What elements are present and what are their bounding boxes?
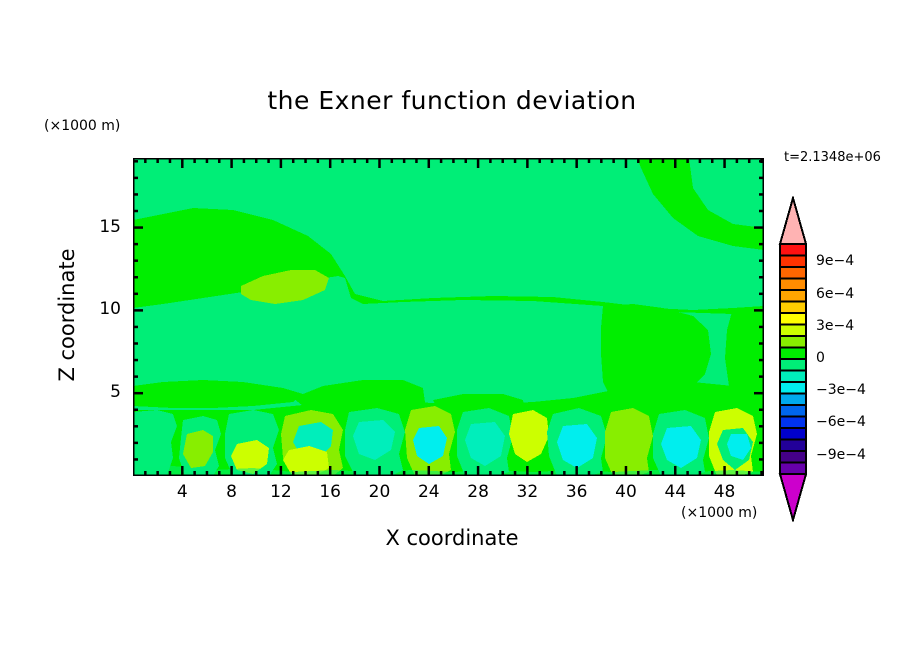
- colorbar-tick-label: 6e−4: [816, 286, 854, 302]
- colorbar-under-arrow: [780, 474, 806, 520]
- colorbar-band: [780, 325, 806, 337]
- y-axis-title: Z coordinate: [55, 205, 79, 425]
- colorbar-band: [780, 348, 806, 360]
- colorbar-band: [780, 463, 806, 475]
- x-tick-label: 44: [655, 482, 695, 502]
- colorbar-band: [780, 359, 806, 371]
- colorbar-tick-label: 9e−4: [816, 253, 854, 269]
- colorbar-tick-label: −6e−4: [816, 414, 866, 430]
- colorbar-band: [780, 428, 806, 440]
- x-tick-label: 12: [261, 482, 301, 502]
- x-axis-title: X coordinate: [0, 526, 904, 550]
- x-tick-label: 24: [409, 482, 449, 502]
- colorbar-tick-label: −9e−4: [816, 447, 866, 463]
- y-tick-label: 5: [81, 382, 121, 402]
- timestamp-label: t=2.1348e+06: [784, 150, 881, 165]
- colorbar-tick-label: −3e−4: [816, 382, 866, 398]
- colorbar-tick-label: 3e−4: [816, 318, 854, 334]
- x-tick-label: 36: [557, 482, 597, 502]
- x-axis-units-label: (×1000 m): [681, 505, 757, 521]
- colorbar-band: [780, 382, 806, 394]
- colorbar-band: [780, 451, 806, 463]
- x-tick-label: 48: [705, 482, 745, 502]
- colorbar: [776, 196, 810, 522]
- colorbar-band: [780, 279, 806, 291]
- colorbar-band: [780, 244, 806, 256]
- colorbar-over-arrow: [780, 198, 806, 244]
- colorbar-band: [780, 371, 806, 383]
- contour-field: [133, 158, 764, 476]
- y-tick-label: 15: [81, 217, 121, 237]
- z-axis-units-label: (×1000 m): [44, 118, 120, 134]
- contour-plot-figure: the Exner function deviation (×1000 m) (…: [0, 0, 904, 654]
- colorbar-band: [780, 267, 806, 279]
- colorbar-band: [780, 405, 806, 417]
- page-title: the Exner function deviation: [0, 86, 904, 115]
- colorbar-band: [780, 417, 806, 429]
- x-tick-label: 4: [162, 482, 202, 502]
- x-tick-label: 40: [606, 482, 646, 502]
- y-tick-label: 10: [81, 299, 121, 319]
- x-tick-label: 16: [310, 482, 350, 502]
- colorbar-band: [780, 290, 806, 302]
- x-tick-label: 32: [507, 482, 547, 502]
- colorbar-band: [780, 256, 806, 268]
- colorbar-band: [780, 440, 806, 452]
- x-tick-label: 20: [359, 482, 399, 502]
- x-tick-label: 8: [212, 482, 252, 502]
- colorbar-tick-label: 0: [816, 350, 825, 366]
- x-tick-label: 28: [458, 482, 498, 502]
- colorbar-band: [780, 336, 806, 348]
- colorbar-band: [780, 313, 806, 325]
- colorbar-band: [780, 394, 806, 406]
- colorbar-band: [780, 302, 806, 314]
